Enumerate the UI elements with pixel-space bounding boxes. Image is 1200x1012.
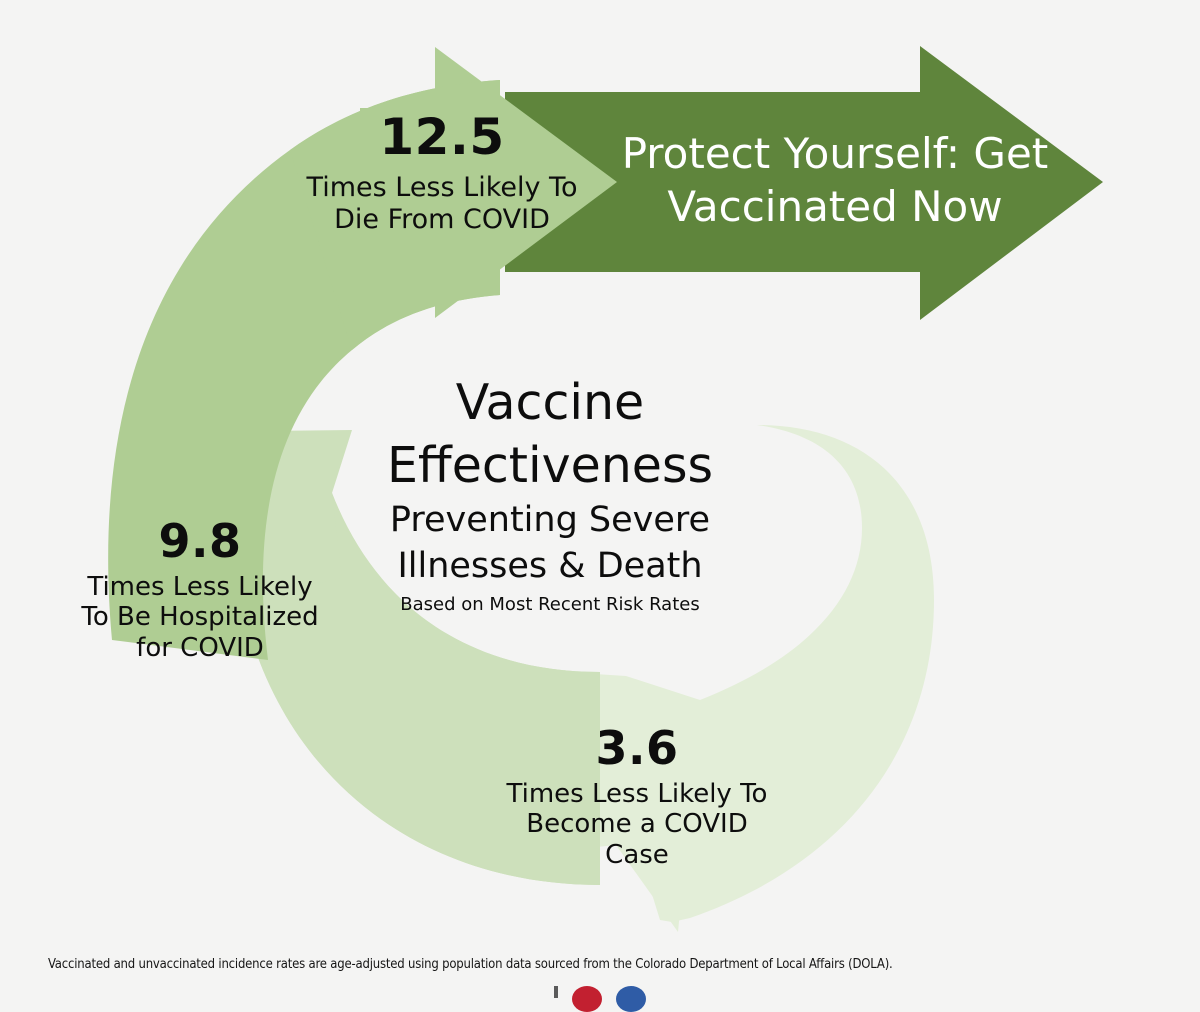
stat-label-hospitalized-line-2: To Be Hospitalized — [56, 602, 344, 632]
stat-label-case-line-1: Times Less Likely To — [484, 779, 790, 809]
stat-label-case-line-2: Become a COVID — [484, 809, 790, 839]
vaccine-effectiveness-infographic: Protect Yourself: Get Vaccinated Now 12.… — [0, 0, 1200, 999]
stat-label-case-line-3: Case — [484, 840, 790, 870]
stat-block-die: 12.5 Times Less Likely To Die From COVID — [274, 112, 610, 235]
stat-block-hospitalized: 9.8 Times Less Likely To Be Hospitalized… — [56, 518, 344, 663]
logo-red-circle-icon — [572, 986, 602, 1012]
center-subtitle-line-2: Illnesses & Death — [360, 545, 740, 588]
center-subtitle-line-1: Preventing Severe — [360, 499, 740, 542]
stat-label-case: Times Less Likely To Become a COVID Case — [484, 779, 790, 870]
logo-blue-circle-icon — [616, 986, 646, 1012]
stat-value-case: 3.6 — [484, 725, 790, 771]
stat-label-die-line-2: Die From COVID — [274, 204, 610, 236]
stat-label-hospitalized: Times Less Likely To Be Hospitalized for… — [56, 572, 344, 663]
center-title-block: Vaccine Effectiveness Preventing Severe … — [360, 372, 740, 615]
center-title-line-1: Vaccine — [360, 372, 740, 435]
partial-logo-strip — [0, 986, 1200, 999]
footnote-text: Vaccinated and unvaccinated incidence ra… — [48, 957, 1148, 972]
center-title-line-2: Effectiveness — [360, 435, 740, 498]
stat-label-hospitalized-line-3: for COVID — [56, 633, 344, 663]
center-title-note: Based on Most Recent Risk Rates — [360, 594, 740, 615]
logo-tick-icon — [554, 986, 558, 998]
stat-value-hospitalized: 9.8 — [56, 518, 344, 564]
stat-label-die: Times Less Likely To Die From COVID — [274, 172, 610, 235]
header-banner-text: Protect Yourself: Get Vaccinated Now — [600, 128, 1070, 234]
header-line-1: Protect Yourself: Get — [600, 128, 1070, 181]
stat-label-die-line-1: Times Less Likely To — [274, 172, 610, 204]
stat-block-case: 3.6 Times Less Likely To Become a COVID … — [484, 725, 790, 870]
stat-value-die: 12.5 — [274, 112, 610, 162]
header-line-2: Vaccinated Now — [600, 181, 1070, 234]
stat-label-hospitalized-line-1: Times Less Likely — [56, 572, 344, 602]
